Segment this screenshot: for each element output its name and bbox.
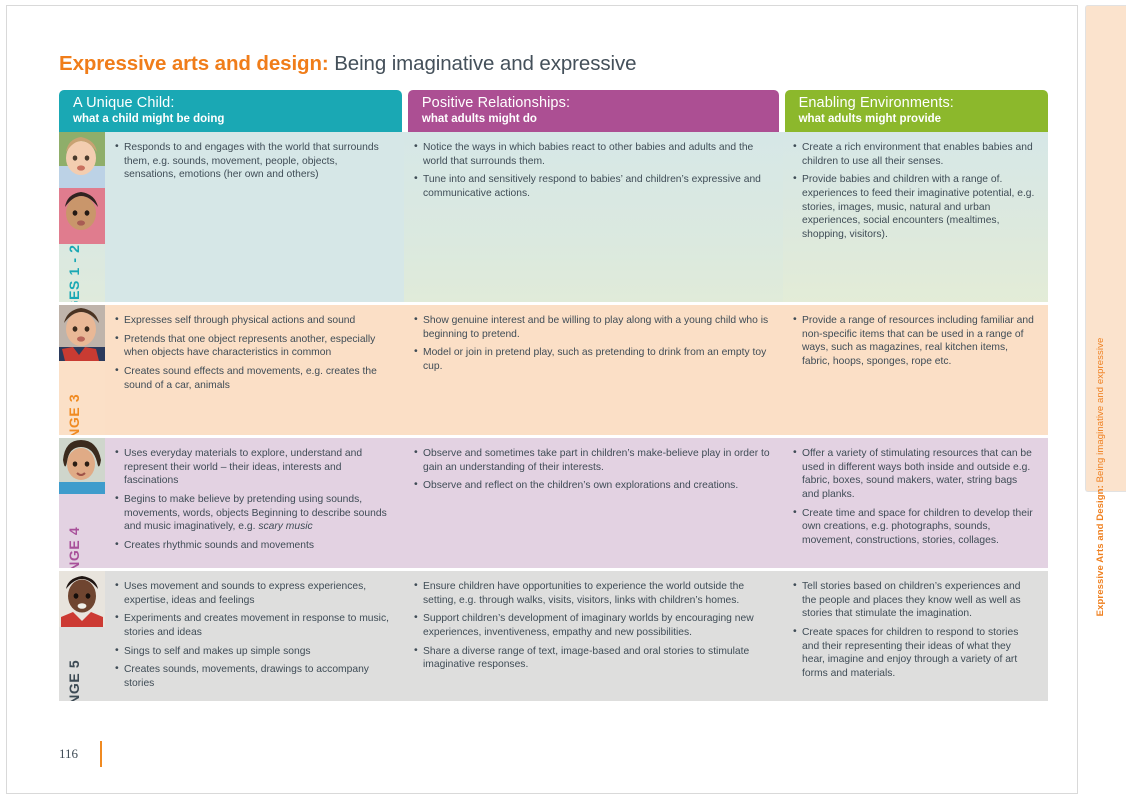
section-tab-label: Expressive Arts and Design: Being imagin… (1095, 338, 1106, 617)
list-item: Observe and sometimes take part in child… (414, 447, 771, 474)
section-tab-lead: Expressive Arts and Design: (1095, 485, 1106, 616)
range-label-word: RANGE (66, 540, 82, 568)
list-item: Create time and space for children to de… (793, 507, 1036, 548)
list-item: Create a rich environment that enables b… (793, 141, 1036, 168)
range-gutter: RANGE 5 (59, 571, 105, 701)
bullet-list: Responds to and engages with the world t… (115, 141, 392, 182)
section-tab[interactable]: Expressive Arts and Design: Being imagin… (1085, 5, 1126, 492)
row-cells: Expresses self through physical actions … (105, 305, 1048, 435)
list-item: Offer a variety of stimulating resources… (793, 447, 1036, 502)
bullet-list: Offer a variety of stimulating resources… (793, 447, 1036, 548)
list-item: Sings to self and makes up simple songs (115, 645, 392, 659)
table-row: RANGE 4 Uses everyday materials to explo… (59, 438, 1048, 568)
range-label-word: RANGES (66, 280, 82, 302)
cell-enabling-environments: Provide a range of resources including f… (783, 305, 1048, 435)
range-label-number: 4 (66, 527, 82, 535)
cell-enabling-environments: Tell stories based on children’s experie… (783, 571, 1048, 701)
page-title-area: Expressive arts and design: (59, 52, 329, 75)
toddler-photo-3 (59, 305, 105, 361)
list-item: Show genuine interest and be willing to … (414, 314, 771, 341)
column-header-enabling-environments: Enabling Environments: what adults might… (785, 90, 1048, 132)
bullet-list: Notice the ways in which babies react to… (414, 141, 771, 201)
range-label-word: RANGE (66, 407, 82, 435)
list-item: Tune into and sensitively respond to bab… (414, 173, 771, 200)
range-label: RANGE 5 (59, 627, 105, 701)
range-label-number: 5 (66, 660, 82, 668)
list-item: Observe and reflect on the children’s ow… (414, 479, 771, 493)
cell-enabling-environments: Create a rich environment that enables b… (783, 132, 1048, 302)
cell-positive-relationships: Ensure children have opportunities to ex… (404, 571, 783, 701)
section-tab-rest: Being imaginative and expressive (1095, 338, 1106, 485)
page-number: 116 (59, 746, 78, 762)
row-cells: Uses movement and sounds to express expe… (105, 571, 1048, 701)
cell-unique-child: Expresses self through physical actions … (105, 305, 404, 435)
list-item: Uses everyday materials to explore, unde… (115, 447, 392, 488)
column-header-unique-child: A Unique Child: what a child might be do… (59, 90, 402, 132)
bullet-list: Expresses self through physical actions … (115, 314, 392, 392)
bullet-list: Provide a range of resources including f… (793, 314, 1036, 369)
row-cells: Uses everyday materials to explore, unde… (105, 438, 1048, 568)
column-header-title: A Unique Child: (73, 94, 390, 112)
cell-positive-relationships: Show genuine interest and be willing to … (404, 305, 783, 435)
list-item: Create spaces for children to respond to… (793, 626, 1036, 681)
bullet-list: Show genuine interest and be willing to … (414, 314, 771, 374)
list-item: Provide babies and children with a range… (793, 173, 1036, 241)
list-item: Provide a range of resources including f… (793, 314, 1036, 369)
bullet-list: Ensure children have opportunities to ex… (414, 580, 771, 672)
list-item: Begins to make believe by pretending usi… (115, 493, 392, 534)
page-footer: 116 (59, 741, 102, 767)
list-item: Pretends that one object represents anot… (115, 333, 392, 360)
child-photo-4 (59, 438, 105, 494)
cell-unique-child: Uses movement and sounds to express expe… (105, 571, 404, 701)
list-item: Creates sounds, movements, drawings to a… (115, 663, 392, 690)
row-cells: Responds to and engages with the world t… (105, 132, 1048, 302)
column-header-positive-relationships: Positive Relationships: what adults migh… (408, 90, 779, 132)
list-item: Notice the ways in which babies react to… (414, 141, 771, 168)
list-item: Creates rhythmic sounds and movements (115, 539, 392, 553)
range-label-number: 3 (66, 394, 82, 402)
bullet-list: Create a rich environment that enables b… (793, 141, 1036, 242)
footer-rule (100, 741, 102, 767)
development-matters-table: A Unique Child: what a child might be do… (59, 90, 1048, 701)
list-item: Uses movement and sounds to express expe… (115, 580, 392, 607)
range-gutter: RANGES 1 - 2 (59, 132, 105, 302)
list-item: Expresses self through physical actions … (115, 314, 392, 328)
cell-positive-relationships: Notice the ways in which babies react to… (404, 132, 783, 302)
cell-enabling-environments: Offer a variety of stimulating resources… (783, 438, 1048, 568)
column-header-title: Positive Relationships: (422, 94, 767, 112)
cell-unique-child: Responds to and engages with the world t… (105, 132, 404, 302)
list-item: Creates sound effects and movements, e.g… (115, 365, 392, 392)
page-title: Expressive arts and design: Being imagin… (59, 52, 636, 76)
column-header-subtitle: what a child might be doing (73, 112, 390, 126)
column-header-subtitle: what adults might do (422, 112, 767, 126)
list-item: Support children’s development of imagin… (414, 612, 771, 639)
list-item: Share a diverse range of text, image-bas… (414, 645, 771, 672)
cell-unique-child: Uses everyday materials to explore, unde… (105, 438, 404, 568)
bullet-list: Uses everyday materials to explore, unde… (115, 447, 392, 553)
range-gutter: RANGE 3 (59, 305, 105, 435)
table-row: RANGES 1 - 2 Responds to and engages wit… (59, 132, 1048, 302)
range-label: RANGE 4 (59, 494, 105, 568)
cell-positive-relationships: Observe and sometimes take part in child… (404, 438, 783, 568)
column-header-subtitle: what adults might provide (799, 112, 1036, 126)
range-label: RANGE 3 (59, 361, 105, 435)
page-title-aspect: Being imaginative and expressive (329, 52, 637, 75)
range-gutter: RANGE 4 (59, 438, 105, 568)
list-item: Ensure children have opportunities to ex… (414, 580, 771, 607)
table-header-row: A Unique Child: what a child might be do… (59, 90, 1048, 132)
range-label-word: RANGE (66, 672, 82, 700)
table-row: RANGE 5 Uses movement and sounds to expr… (59, 571, 1048, 701)
list-item: Model or join in pretend play, such as p… (414, 346, 771, 373)
range-label-number: 1 - 2 (66, 244, 82, 275)
range-label: RANGES 1 - 2 (59, 188, 105, 302)
list-item: Experiments and creates movement in resp… (115, 612, 392, 639)
bullet-list: Uses movement and sounds to express expe… (115, 580, 392, 691)
child-photo-5 (59, 571, 105, 627)
column-header-title: Enabling Environments: (799, 94, 1036, 112)
table-body: RANGES 1 - 2 Responds to and engages wit… (59, 132, 1048, 701)
list-item: Responds to and engages with the world t… (115, 141, 392, 182)
bullet-list: Tell stories based on children’s experie… (793, 580, 1036, 681)
baby-photo-1 (59, 132, 105, 188)
bullet-list: Observe and sometimes take part in child… (414, 447, 771, 493)
list-item: Tell stories based on children’s experie… (793, 580, 1036, 621)
table-row: RANGE 3 Expresses self through physical … (59, 305, 1048, 435)
